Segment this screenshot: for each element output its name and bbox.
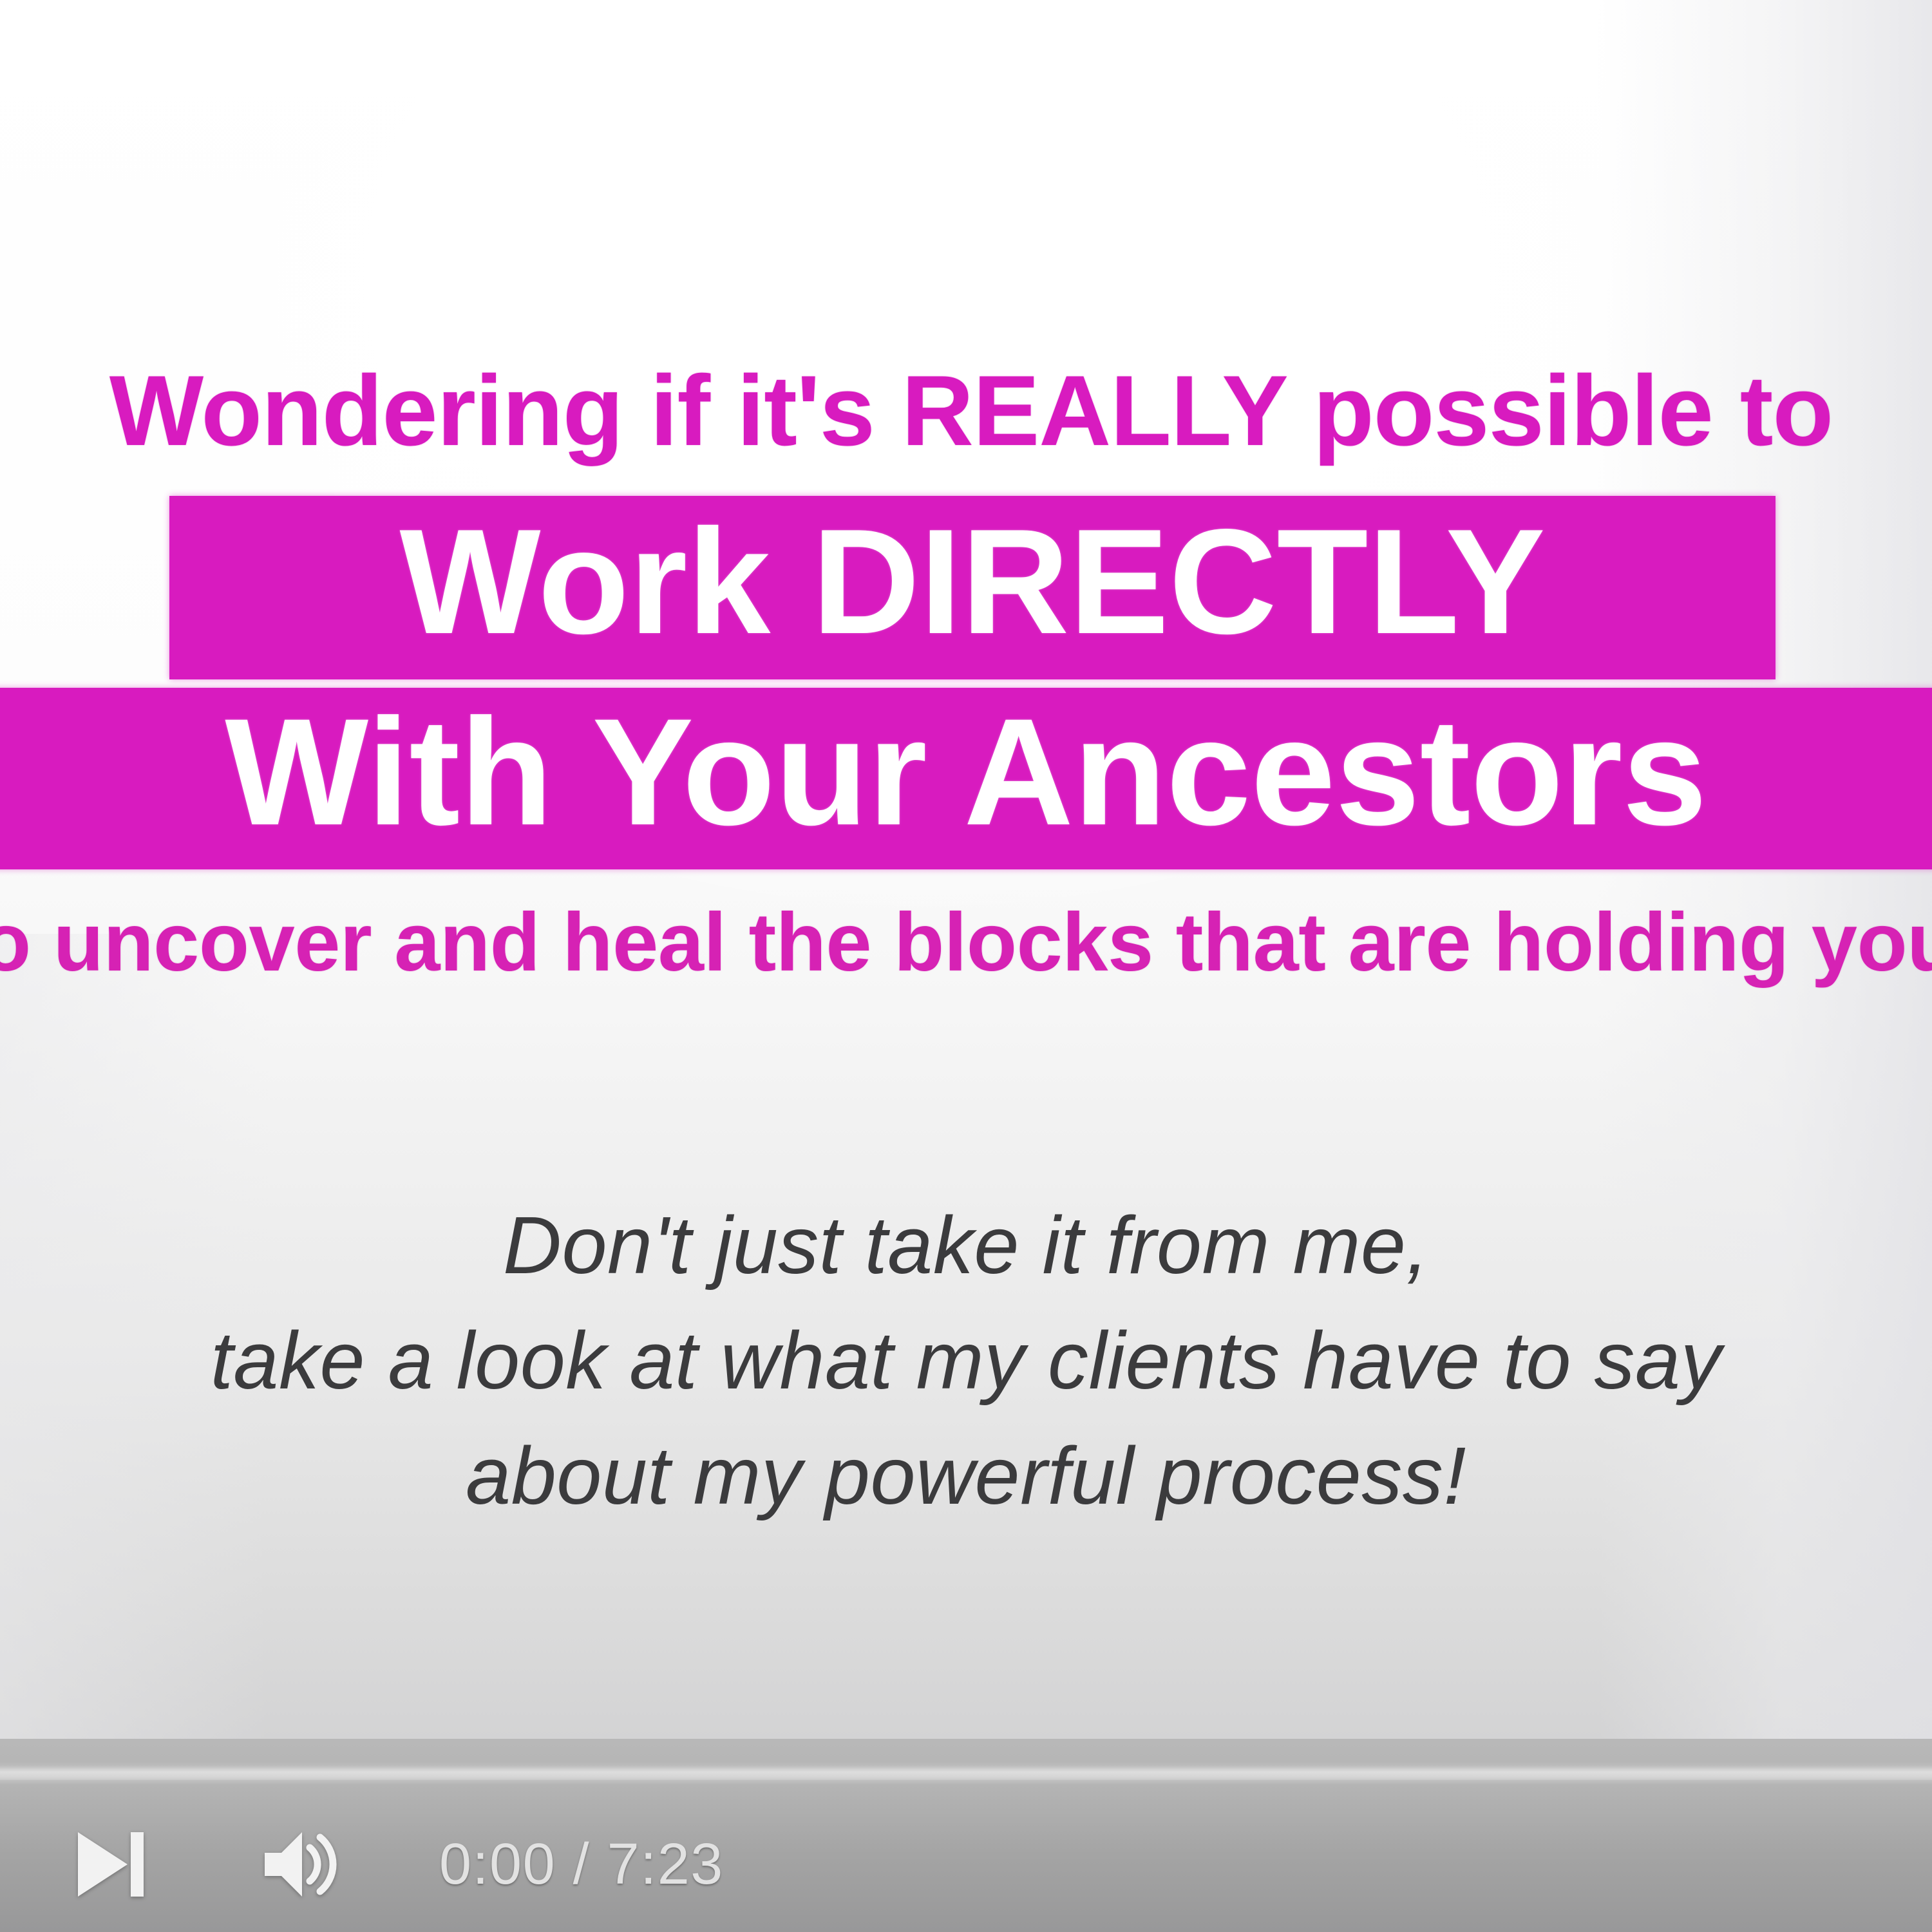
volume-on-icon <box>260 1823 342 1906</box>
headline-line-4: o uncover and heal the blocks that are h… <box>0 902 1932 984</box>
progress-scrubber[interactable] <box>0 1766 1932 1780</box>
time-display: 0:00 / 7:23 <box>439 1832 724 1898</box>
video-surface[interactable]: Wondering if it's REALLY possible to Wor… <box>0 0 1932 1739</box>
headline-line-1: Wondering if it's REALLY possible to <box>0 361 1932 460</box>
video-player[interactable]: Wondering if it's REALLY possible to Wor… <box>0 0 1932 1932</box>
headline-line-3: With Your Ancestors <box>225 696 1707 848</box>
play-next-button[interactable] <box>59 1816 156 1913</box>
skip-next-icon <box>66 1823 149 1906</box>
video-control-bar[interactable]: 0:00 / 7:23 <box>0 1739 1932 1932</box>
subtitle-line-2: take a look at what my clients have to s… <box>0 1303 1932 1419</box>
headline-line-2-highlight: Work DIRECTLY <box>169 496 1776 679</box>
headline-line-3-highlight: With Your Ancestors <box>0 688 1932 869</box>
subtitle-block: Don't just take it from me, take a look … <box>0 1188 1932 1534</box>
subtitle-line-3: about my powerful process! <box>0 1419 1932 1534</box>
headline-line-2: Work DIRECTLY <box>400 507 1546 657</box>
volume-button[interactable] <box>252 1816 349 1913</box>
subtitle-line-1: Don't just take it from me, <box>0 1188 1932 1303</box>
control-buttons-row: 0:00 / 7:23 <box>0 1797 1932 1932</box>
